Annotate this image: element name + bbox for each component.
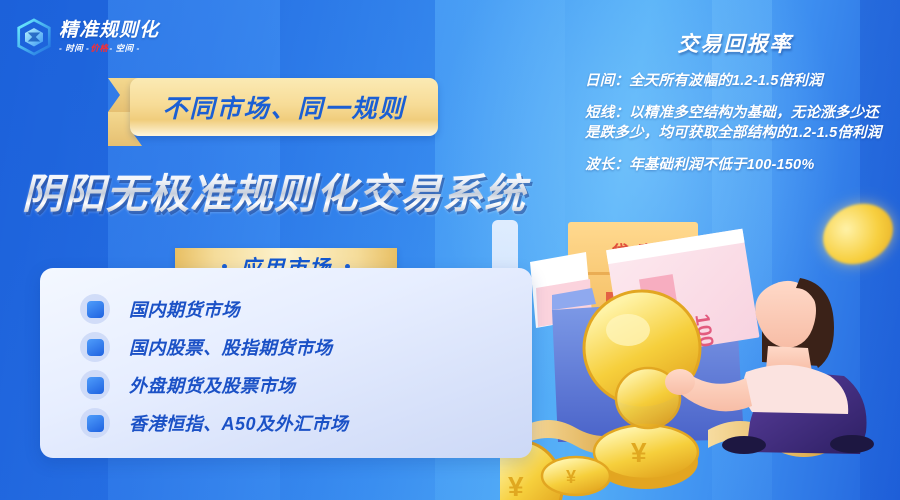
- market-list-card: 国内期货市场 国内股票、股指期货市场 外盘期货及股票市场 香港恒指、A50及外汇…: [40, 268, 532, 458]
- coin-small: ¥: [542, 457, 610, 495]
- brand-subtitle: - 时间 - 价格 - 空间 -: [59, 44, 159, 53]
- svg-text:¥: ¥: [508, 471, 524, 500]
- ribbon-body: 不同市场、同一规则: [130, 78, 438, 136]
- brand-logo[interactable]: 精准规则化 - 时间 - 价格 - 空间 -: [16, 18, 159, 56]
- list-item[interactable]: 香港恒指、A50及外汇市场: [80, 404, 532, 442]
- bullet-square-icon: [80, 370, 110, 400]
- brand-sub-highlight: 价格: [90, 44, 108, 53]
- return-rate-line-1: 日间：全天所有波幅的1.2-1.5倍利润: [585, 71, 885, 92]
- return-rate-line-2: 短线：以精准多空结构为基础，无论涨多少还是跌多少，均可获取全部结构的1.2-1.…: [585, 103, 885, 144]
- bullet-square-icon: [80, 408, 110, 438]
- return-rate-title: 交易回报率: [585, 28, 885, 58]
- bullet-square-icon: [80, 332, 110, 362]
- market-item-label-3: 外盘期货及股票市场: [129, 372, 296, 398]
- return-rate-line-3: 波长：年基础利润不低于100-150%: [585, 155, 885, 176]
- brand-sub-right: - 空间 -: [109, 44, 139, 53]
- market-item-label-4: 香港恒指、A50及外汇市场: [129, 410, 349, 436]
- money-illustration: 袋 惠 100: [500, 200, 900, 500]
- bullet-square-icon: [80, 294, 110, 324]
- poster-canvas: 精准规则化 - 时间 - 价格 - 空间 - 不同市场、同一规则 阴阳无极准规则…: [0, 0, 900, 500]
- svg-text:¥: ¥: [631, 437, 647, 468]
- brand-name: 精准规则化: [59, 21, 159, 40]
- list-item[interactable]: 外盘期货及股票市场: [80, 366, 532, 404]
- page-title: 阴阳无极准规则化交易系统: [22, 160, 552, 220]
- market-item-label-1: 国内期货市场: [129, 296, 240, 322]
- list-item[interactable]: 国内期货市场: [80, 290, 532, 328]
- svg-text:¥: ¥: [566, 467, 576, 487]
- list-item[interactable]: 国内股票、股指期货市场: [80, 328, 532, 366]
- hex-layers-logo-icon: [16, 18, 52, 56]
- brand-sub-left: - 时间 -: [59, 44, 89, 53]
- market-item-label-2: 国内股票、股指期货市场: [129, 334, 333, 360]
- ribbon-banner: 不同市场、同一规则: [108, 78, 460, 140]
- ribbon-text: 不同市场、同一规则: [162, 89, 405, 125]
- return-rate-panel: 交易回报率 日间：全天所有波幅的1.2-1.5倍利润 短线：以精准多空结构为基础…: [585, 28, 885, 186]
